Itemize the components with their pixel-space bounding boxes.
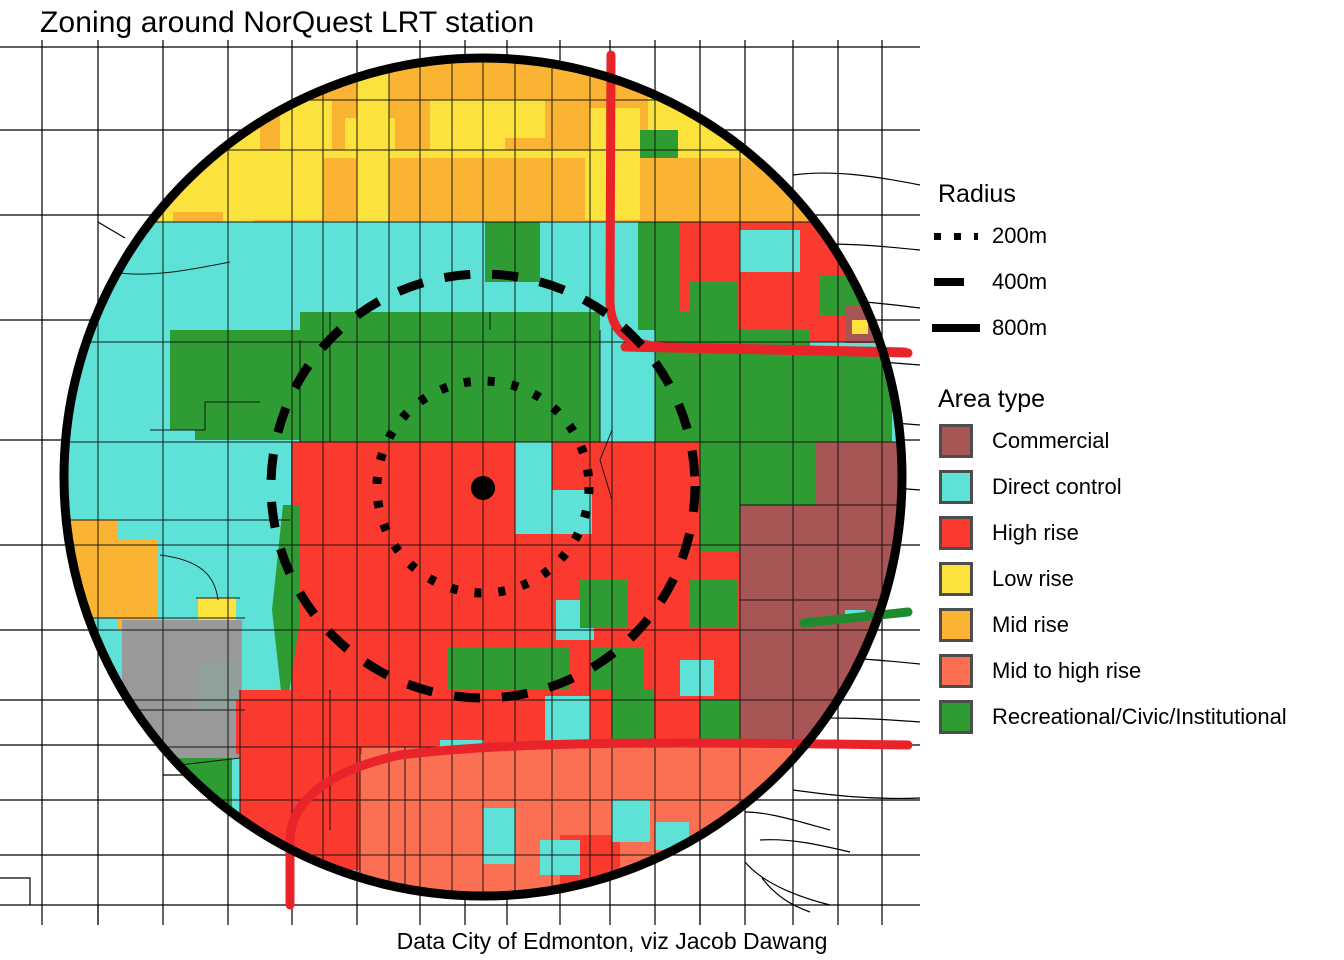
legend-item-radius-200m[interactable]: 200m [920, 213, 1344, 259]
color-swatch-icon [939, 516, 973, 550]
color-swatch-icon [939, 424, 973, 458]
legend-label-direct-control: Direct control [992, 474, 1122, 500]
zoning-polygons [0, 0, 920, 925]
swatch-recreational [920, 700, 992, 734]
area-type-legend-title: Area type [938, 385, 1344, 414]
legend-panel: Radius 200m 400m 800m Area type Co [920, 180, 1344, 800]
caption: Data City of Edmonton, viz Jacob Dawang [0, 928, 1344, 955]
color-swatch-icon [939, 608, 973, 642]
swatch-commercial [920, 424, 992, 458]
legend-label-mid-to-high-rise: Mid to high rise [992, 658, 1141, 684]
legend-item-mid-rise[interactable]: Mid rise [920, 602, 1344, 648]
legend-item-radius-400m[interactable]: 400m [920, 259, 1344, 305]
legend-label-mid-rise: Mid rise [992, 612, 1069, 638]
legend-label-low-rise: Low rise [992, 566, 1074, 592]
legend-item-recreational[interactable]: Recreational/Civic/Institutional [920, 694, 1344, 740]
zoning-map [0, 0, 920, 925]
radius-legend: Radius 200m 400m 800m [920, 180, 1344, 351]
caption-text: Data City of Edmonton, viz Jacob Dawang [397, 928, 828, 955]
legend-item-mid-to-high-rise[interactable]: Mid to high rise [920, 648, 1344, 694]
legend-label-radius-400m: 400m [992, 269, 1047, 295]
legend-item-radius-800m[interactable]: 800m [920, 305, 1344, 351]
swatch-high-rise [920, 516, 992, 550]
legend-label-high-rise: High rise [992, 520, 1079, 546]
area-type-legend: Area type Commercial Direct control High… [920, 385, 1344, 740]
legend-label-recreational: Recreational/Civic/Institutional [992, 704, 1287, 730]
color-swatch-icon [939, 700, 973, 734]
station-center-marker [471, 476, 495, 500]
legend-item-commercial[interactable]: Commercial [920, 418, 1344, 464]
swatch-direct-control [920, 470, 992, 504]
legend-label-radius-800m: 800m [992, 315, 1047, 341]
legend-item-direct-control[interactable]: Direct control [920, 464, 1344, 510]
legend-label-commercial: Commercial [992, 428, 1109, 454]
color-swatch-icon [939, 654, 973, 688]
swatch-low-rise [920, 562, 992, 596]
legend-label-radius-200m: 200m [992, 223, 1047, 249]
radius-legend-title: Radius [938, 180, 1344, 209]
map-svg [0, 0, 920, 925]
dashed-line-icon [920, 278, 992, 286]
legend-item-low-rise[interactable]: Low rise [920, 556, 1344, 602]
lrt-line-east [625, 347, 908, 353]
legend-item-high-rise[interactable]: High rise [920, 510, 1344, 556]
swatch-mid-to-high-rise [920, 654, 992, 688]
solid-line-icon [920, 324, 992, 332]
color-swatch-icon [939, 562, 973, 596]
color-swatch-icon [939, 470, 973, 504]
swatch-mid-rise [920, 608, 992, 642]
dotted-line-icon [920, 233, 992, 240]
